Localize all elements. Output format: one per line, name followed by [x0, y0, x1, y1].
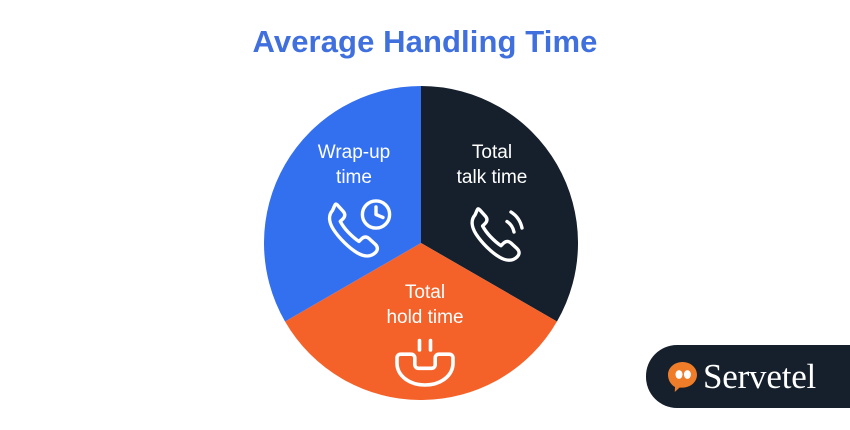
- page-title: Average Handling Time: [0, 24, 850, 60]
- infographic-canvas: Average Handling Time Wrap-up time Total…: [0, 0, 850, 430]
- brand-logo[interactable]: Servetel: [646, 345, 850, 408]
- pie-chart: [264, 86, 578, 400]
- speech-bubble-quote-icon: [667, 361, 698, 392]
- logo-wordmark: Servetel: [703, 359, 816, 394]
